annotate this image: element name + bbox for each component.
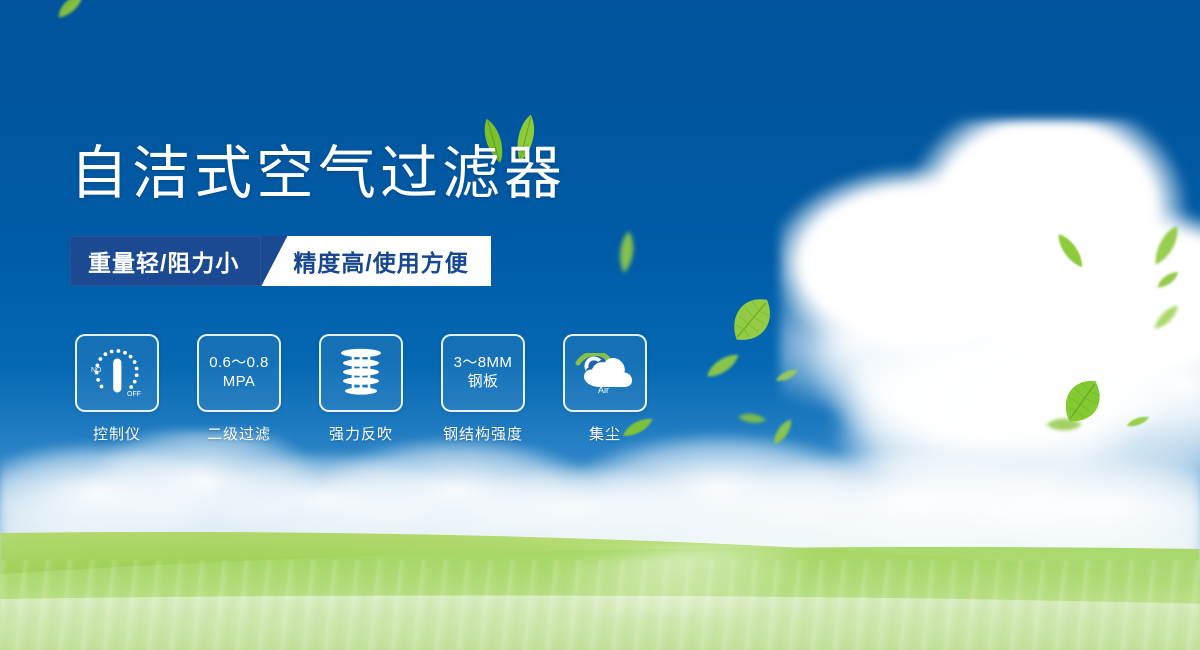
feature-item-control-dial[interactable]: NO OFF 控制仪 [70, 334, 164, 444]
feature-item-steel[interactable]: 3～8MM 钢板 钢结构强度 [436, 334, 530, 444]
dial-label-no: NO [91, 367, 102, 374]
feature-icon-box: 0.6～0.8 MPA [197, 334, 281, 412]
feature-item-pressure[interactable]: 0.6～0.8 MPA 二级过滤 [192, 334, 286, 444]
cloud-air-icon-text: Air [598, 385, 609, 393]
control-dial-icon: NO OFF [87, 346, 147, 400]
feature-label: 二级过滤 [207, 423, 271, 444]
page-title: 自洁式空气过滤器 [70, 144, 566, 202]
product-banner: 自洁式空气过滤器 重量轻/阻力小 精度高/使用方便 [0, 0, 1200, 650]
pressure-text-icon-line2: MPA [223, 373, 256, 392]
feature-icon-box: 3～8MM 钢板 [441, 334, 525, 412]
steel-plate-text-icon-line1: 3～8MM [454, 354, 513, 373]
filter-cartridge-icon [333, 346, 389, 400]
feature-icon-box: Air [563, 334, 647, 412]
subtitle-wedge-divider [261, 236, 287, 286]
feature-label: 强力反吹 [329, 423, 393, 444]
feature-label: 集尘 [589, 423, 621, 444]
feature-label: 控制仪 [93, 423, 141, 444]
cloud-air-icon: Air [574, 353, 636, 393]
feature-item-backblow[interactable]: 强力反吹 [314, 334, 408, 444]
dial-label-off: OFF [127, 391, 141, 398]
subtitle-left: 重量轻/阻力小 [70, 236, 261, 286]
subtitle-bar: 重量轻/阻力小 精度高/使用方便 [70, 236, 491, 286]
subtitle-right: 精度高/使用方便 [287, 236, 490, 286]
steel-plate-text-icon-line2: 钢板 [468, 373, 499, 392]
feature-icon-box: NO OFF [75, 334, 159, 412]
feature-icon-box [319, 334, 403, 412]
pressure-text-icon-line1: 0.6～0.8 [209, 354, 269, 373]
feature-item-dust-collection[interactable]: Air 集尘 [558, 334, 652, 444]
feature-label: 钢结构强度 [443, 423, 523, 444]
feature-list: NO OFF 控制仪 0.6～0.8 MPA 二级过滤 [70, 334, 652, 444]
